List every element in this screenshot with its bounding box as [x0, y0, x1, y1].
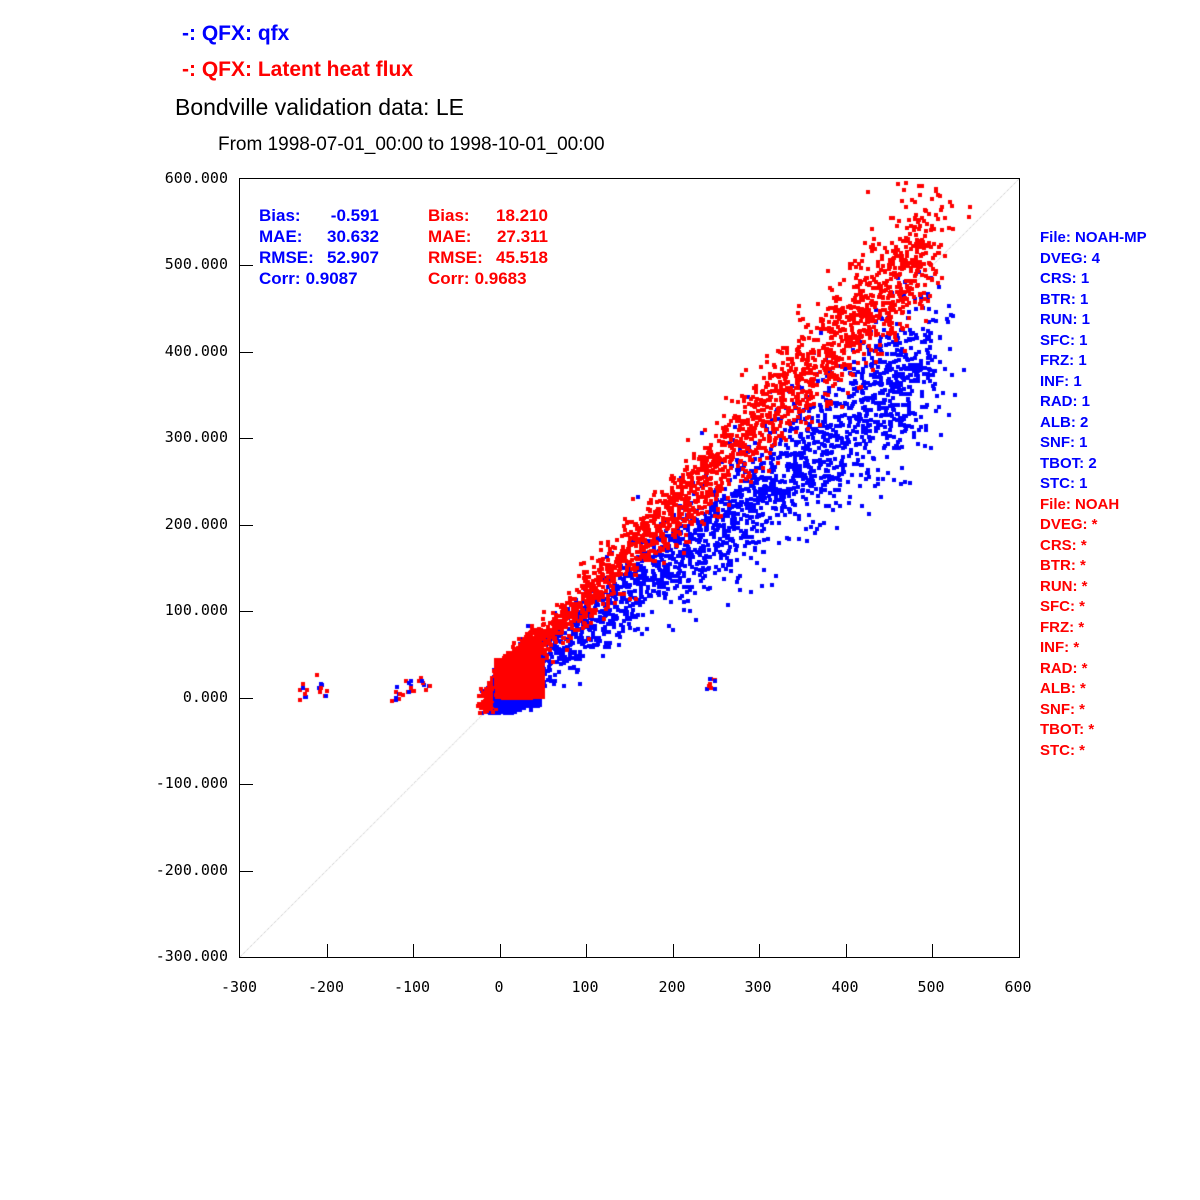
config-item-red: RUN: * [1040, 577, 1190, 598]
x-axis-tick-label: -200 [308, 978, 344, 996]
page-title: Bondville validation data: LE [175, 94, 464, 121]
x-axis-tick-label: 500 [917, 978, 944, 996]
y-tick [240, 871, 253, 872]
scatter-plot-frame [239, 178, 1020, 958]
config-item-red: SNF: * [1040, 700, 1190, 721]
config-item-red: CRS: * [1040, 536, 1190, 557]
x-axis-tick-label: 100 [571, 978, 598, 996]
stat-corr-red: Corr:0.9683 [428, 268, 548, 289]
stat-mae-red: MAE:27.311 [428, 226, 548, 247]
config-item-blue: INF: 1 [1040, 372, 1190, 393]
config-item-blue: SNF: 1 [1040, 433, 1190, 454]
config-item-blue: DVEG: 4 [1040, 249, 1190, 270]
x-axis-tick-label: 0 [494, 978, 503, 996]
plot-subtitle-date-range: From 1998-07-01_00:00 to 1998-10-01_00:0… [218, 134, 605, 156]
x-tick [413, 944, 414, 957]
stat-label: MAE: [259, 226, 317, 247]
config-item-red: SFC: * [1040, 597, 1190, 618]
config-item-blue: TBOT: 2 [1040, 454, 1190, 475]
config-item-blue: RAD: 1 [1040, 392, 1190, 413]
y-axis-tick-label: 100.000 [165, 601, 228, 619]
stat-mae-blue: MAE:30.632 [259, 226, 379, 247]
y-axis-tick-label: 600.000 [165, 169, 228, 187]
config-item-red: STC: * [1040, 741, 1190, 762]
stat-value: 27.311 [486, 226, 548, 247]
y-tick [240, 265, 253, 266]
stat-rmse-blue: RMSE:52.907 [259, 247, 379, 268]
config-item-red: TBOT: * [1040, 720, 1190, 741]
x-axis-labels: -300-200-1000100200300400500600 [239, 978, 1020, 1008]
y-axis-tick-label: 0.000 [183, 688, 228, 706]
y-tick [240, 438, 253, 439]
x-axis-tick-label: 600 [1004, 978, 1031, 996]
y-axis-tick-label: 400.000 [165, 342, 228, 360]
stat-label: Corr: [428, 268, 470, 289]
config-item-red: INF: * [1040, 638, 1190, 659]
x-axis-tick-label: 300 [744, 978, 771, 996]
config-item-blue: STC: 1 [1040, 474, 1190, 495]
config-item-red: DVEG: * [1040, 515, 1190, 536]
stat-value: 30.632 [317, 226, 379, 247]
legend-series-qfx: -: QFX: qfx [182, 22, 289, 46]
legend-series-latent-heat-flux: -: QFX: Latent heat flux [182, 58, 413, 82]
x-tick [673, 944, 674, 957]
stat-label: MAE: [428, 226, 486, 247]
x-tick [932, 944, 933, 957]
config-item-red: RAD: * [1040, 659, 1190, 680]
config-item-red: FRZ: * [1040, 618, 1190, 639]
y-axis-tick-label: -100.000 [156, 774, 228, 792]
stat-value: 0.9087 [306, 268, 358, 289]
y-tick [240, 784, 253, 785]
y-tick [240, 525, 253, 526]
stat-value: 45.518 [486, 247, 548, 268]
stats-block-red: Bias:18.210 MAE:27.311 RMSE:45.518 Corr:… [428, 205, 548, 289]
stat-corr-blue: Corr:0.9087 [259, 268, 379, 289]
stat-value: 0.9683 [475, 268, 527, 289]
stat-label: Bias: [428, 205, 486, 226]
stat-bias-blue: Bias:-0.591 [259, 205, 379, 226]
config-item-red: BTR: * [1040, 556, 1190, 577]
scatter-plot-canvas [240, 179, 1019, 957]
config-item-blue: BTR: 1 [1040, 290, 1190, 311]
stat-value: -0.591 [317, 205, 379, 226]
stat-value: 18.210 [486, 205, 548, 226]
stats-block-blue: Bias:-0.591 MAE:30.632 RMSE:52.907 Corr:… [259, 205, 379, 289]
model-config-legend: File: NOAH-MPDVEG: 4CRS: 1BTR: 1RUN: 1SF… [1040, 228, 1190, 761]
y-tick [240, 611, 253, 612]
stat-rmse-red: RMSE:45.518 [428, 247, 548, 268]
config-item-blue: RUN: 1 [1040, 310, 1190, 331]
stat-label: RMSE: [428, 247, 486, 268]
x-axis-tick-label: 200 [658, 978, 685, 996]
y-axis-tick-label: -200.000 [156, 861, 228, 879]
y-axis-tick-label: -300.000 [156, 947, 228, 965]
y-tick [240, 352, 253, 353]
y-tick [240, 698, 253, 699]
y-axis-tick-label: 200.000 [165, 515, 228, 533]
stat-label: Corr: [259, 268, 301, 289]
config-item-blue: SFC: 1 [1040, 331, 1190, 352]
y-axis-tick-label: 300.000 [165, 428, 228, 446]
x-axis-tick-label: 400 [831, 978, 858, 996]
config-item-blue: ALB: 2 [1040, 413, 1190, 434]
x-tick [500, 944, 501, 957]
stat-bias-red: Bias:18.210 [428, 205, 548, 226]
stat-label: Bias: [259, 205, 317, 226]
x-axis-tick-label: -100 [394, 978, 430, 996]
stat-value: 52.907 [317, 247, 379, 268]
config-file-red: File: NOAH [1040, 495, 1190, 516]
y-axis-labels: -300.000-200.000-100.0000.000100.000200.… [0, 178, 228, 958]
x-tick [586, 944, 587, 957]
stat-label: RMSE: [259, 247, 317, 268]
x-tick [759, 944, 760, 957]
config-file-blue: File: NOAH-MP [1040, 228, 1190, 249]
config-item-blue: CRS: 1 [1040, 269, 1190, 290]
x-axis-tick-label: -300 [221, 978, 257, 996]
config-item-red: ALB: * [1040, 679, 1190, 700]
config-item-blue: FRZ: 1 [1040, 351, 1190, 372]
x-tick [327, 944, 328, 957]
y-axis-tick-label: 500.000 [165, 255, 228, 273]
x-tick [846, 944, 847, 957]
